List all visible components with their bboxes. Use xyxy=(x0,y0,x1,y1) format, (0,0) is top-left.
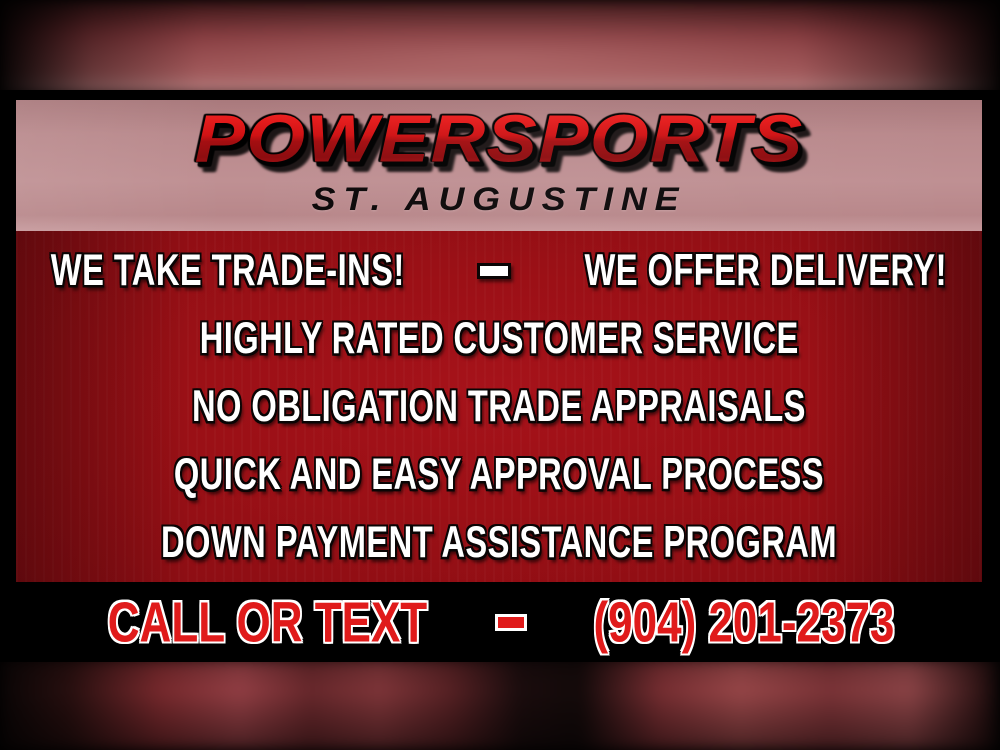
brand-logo-panel: POWERSPORTS ST. AUGUSTINE xyxy=(16,100,982,231)
brand-wordmark: POWERSPORTS xyxy=(16,101,982,179)
feature-delivery: WE OFFER DELIVERY! xyxy=(585,246,947,296)
feature-trade-appraisals: NO OBLIGATION TRADE APPRAISALS xyxy=(192,382,806,432)
cta-phone-number[interactable]: (904) 201-2373 xyxy=(593,591,894,653)
feature-row: DOWN PAYMENT ASSISTANCE PROGRAM xyxy=(16,509,982,577)
feature-approval-process: QUICK AND EASY APPROVAL PROCESS xyxy=(174,450,824,500)
call-to-action-bar: CALL OR TEXT (904) 201-2373 xyxy=(0,582,1000,662)
brand-location-subtitle: ST. AUGUSTINE xyxy=(16,179,982,219)
backdrop-top-blur xyxy=(0,0,1000,96)
dash-separator-icon xyxy=(477,263,511,279)
feature-row: HIGHLY RATED CUSTOMER SERVICE xyxy=(16,305,982,373)
feature-list: WE TAKE TRADE-INS! WE OFFER DELIVERY! HI… xyxy=(16,231,982,582)
feature-row: NO OBLIGATION TRADE APPRAISALS xyxy=(16,373,982,441)
feature-down-payment-assistance: DOWN PAYMENT ASSISTANCE PROGRAM xyxy=(161,518,837,568)
cta-call-or-text-label: CALL OR TEXT xyxy=(107,591,426,653)
feature-row: QUICK AND EASY APPROVAL PROCESS xyxy=(16,441,982,509)
feature-customer-service: HIGHLY RATED CUSTOMER SERVICE xyxy=(199,314,798,364)
features-panel: WE TAKE TRADE-INS! WE OFFER DELIVERY! HI… xyxy=(16,231,982,582)
feature-row: WE TAKE TRADE-INS! WE OFFER DELIVERY! xyxy=(16,237,982,305)
cta-dash-separator-icon xyxy=(495,614,527,631)
feature-trade-ins: WE TAKE TRADE-INS! xyxy=(50,246,404,296)
powersports-ad-banner: POWERSPORTS ST. AUGUSTINE WE TAKE TRADE-… xyxy=(0,0,1000,750)
backdrop-bottom-blur xyxy=(0,658,1000,750)
